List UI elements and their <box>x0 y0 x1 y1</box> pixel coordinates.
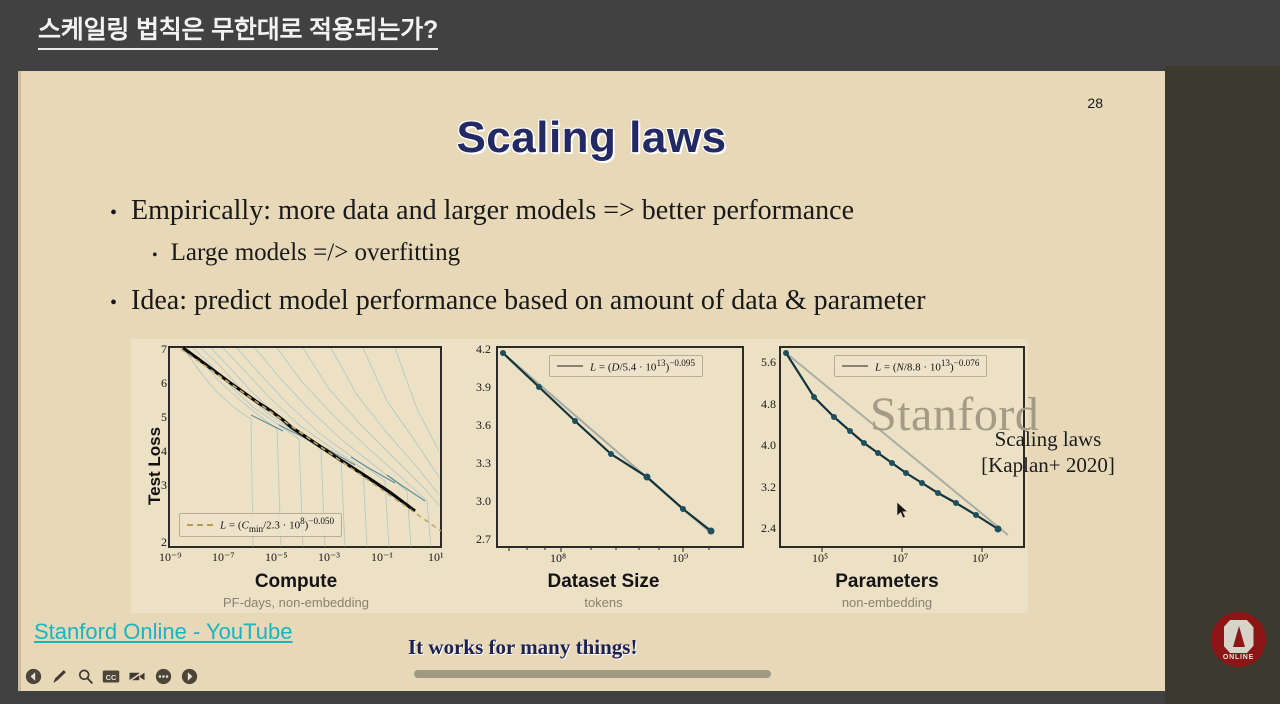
video-progress-bar[interactable] <box>414 670 771 678</box>
bullet-text: Large models =/> overfitting <box>171 236 460 269</box>
app-root: 스케일링 법칙은 무한대로 적용되는가? ONLINE 28 Scaling l… <box>0 0 1280 704</box>
previous-slide-icon[interactable] <box>24 667 42 685</box>
svg-text:CC: CC <box>106 672 117 681</box>
search-icon[interactable] <box>76 667 94 685</box>
chart1-xtick: 10⁻³ <box>318 550 340 565</box>
mouse-cursor <box>896 501 909 520</box>
chart2-xtick: 10⁸ <box>550 551 566 566</box>
stanford-s-icon <box>1224 620 1254 653</box>
chart-panel-dataset-size: 4.2 3.9 3.6 3.3 3.0 2.7 <box>461 339 746 613</box>
citation-line-2: [Kaplan+ 2020] <box>948 452 1148 478</box>
bullet-dot-icon: • <box>110 293 117 313</box>
bullet-item-2: • Large models =/> overfitting <box>152 236 1070 269</box>
chart1-legend-swatch-icon <box>187 524 213 526</box>
bullet-text: Empirically: more data and larger models… <box>131 193 854 230</box>
bullet-item-1: • Empirically: more data and larger mode… <box>110 193 1070 230</box>
stanford-online-youtube-link[interactable]: Stanford Online - YouTube <box>34 619 292 645</box>
page-title: 스케일링 법칙은 무한대로 적용되는가? <box>38 16 438 50</box>
chart-panel-compute: Test Loss 7 6 5 4 3 2 <box>131 339 461 613</box>
presentation-toolbar: CC <box>24 667 198 685</box>
stanford-online-logo: ONLINE <box>1211 612 1266 667</box>
chart3-x-axis-label: Parameters <box>746 571 1028 593</box>
chart2-legend: L = (D/5.4 · 1013)−0.095 <box>549 355 703 377</box>
window-titlebar: 스케일링 법칙은 무한대로 적용되는가? <box>0 0 1280 66</box>
slide-canvas: 28 Scaling laws • Empirically: more data… <box>18 71 1165 691</box>
scaling-laws-figure: Test Loss 7 6 5 4 3 2 <box>131 339 1028 613</box>
more-options-icon[interactable] <box>154 667 172 685</box>
logo-sublabel: ONLINE <box>1223 654 1254 661</box>
bullet-item-3: • Idea: predict model performance based … <box>110 283 1070 320</box>
chart1-xtick: 10¹ <box>428 550 444 565</box>
pen-icon[interactable] <box>50 667 68 685</box>
chart1-x-axis-sublabel: PF-days, non-embedding <box>131 595 461 610</box>
bullet-dot-icon: • <box>110 203 117 223</box>
chart2-xtick: 10⁹ <box>672 551 688 566</box>
citation-line-1: Scaling laws <box>948 426 1148 452</box>
bullet-list: • Empirically: more data and larger mode… <box>110 193 1070 326</box>
chart2-x-axis-sublabel: tokens <box>461 595 746 610</box>
chart2-x-axis-label: Dataset Size <box>461 571 746 593</box>
slide-title: Scaling laws <box>18 113 1165 163</box>
right-side-panel <box>1165 66 1280 704</box>
chart1-legend-label: L = (Cmin/2.3 · 108)−0.050 <box>220 516 334 534</box>
slide-caption: It works for many things! <box>408 635 637 660</box>
chart1-xtick: 10⁻⁹ <box>159 550 182 565</box>
chart3-legend: L = (N/8.8 · 1013)−0.076 <box>834 355 987 377</box>
slide-citation: Scaling laws [Kaplan+ 2020] <box>948 426 1148 479</box>
chart1-xtick: 10⁻¹ <box>371 550 393 565</box>
chart3-legend-label: L = (N/8.8 · 1013)−0.076 <box>875 358 979 374</box>
chart3-x-axis-sublabel: non-embedding <box>746 595 1028 610</box>
chart3-xtick: 10⁵ <box>812 551 828 566</box>
slide-page-number: 28 <box>1087 95 1103 111</box>
next-slide-icon[interactable] <box>180 667 198 685</box>
chart1-x-axis-label: Compute <box>131 571 461 593</box>
chart3-xtick: 10⁷ <box>892 551 908 566</box>
chart1-legend: L = (Cmin/2.3 · 108)−0.050 <box>179 513 342 537</box>
closed-caption-icon[interactable]: CC <box>102 667 120 685</box>
slide-left-edge <box>18 71 21 691</box>
camera-off-icon[interactable] <box>128 667 146 685</box>
chart2-legend-swatch-icon <box>557 365 583 367</box>
chart3-xtick: 10⁹ <box>972 551 988 566</box>
stanford-tree-icon <box>1233 626 1245 647</box>
chart2-legend-label: L = (D/5.4 · 1013)−0.095 <box>590 358 695 374</box>
bullet-text: Idea: predict model performance based on… <box>131 283 926 320</box>
chart1-xtick: 10⁻⁷ <box>212 550 235 565</box>
chart3-legend-swatch-icon <box>842 365 868 367</box>
bullet-dot-icon: • <box>152 248 158 264</box>
chart1-xtick: 10⁻⁵ <box>265 550 288 565</box>
